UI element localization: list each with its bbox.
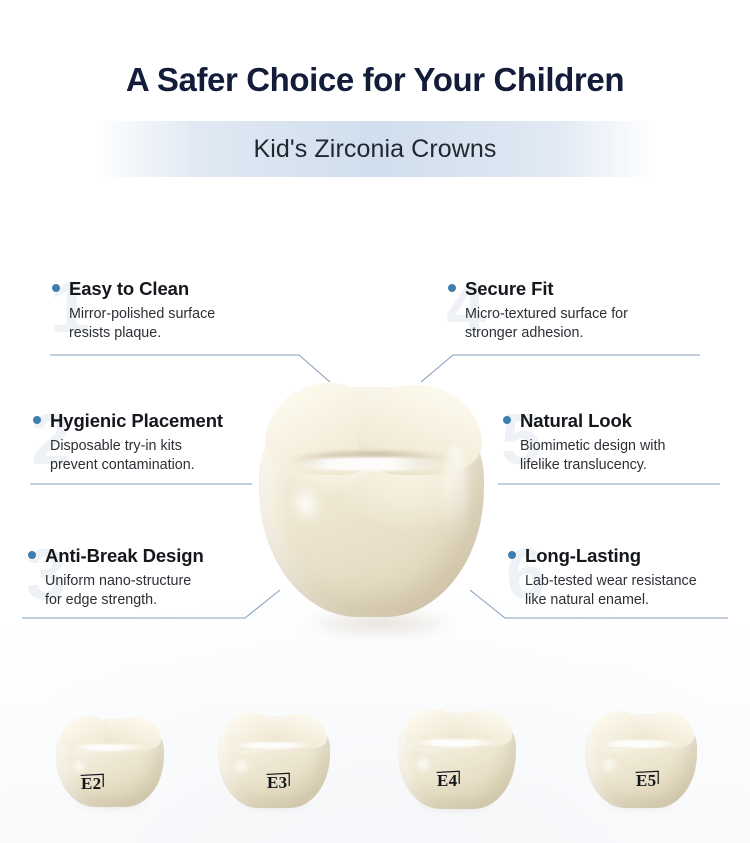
crown-gloss-highlight <box>231 742 316 749</box>
feature-easy-to-clean: 1 Easy to Clean Mirror-polished surface … <box>52 278 215 343</box>
crown-gloss-highlight <box>69 744 151 751</box>
bullet-icon <box>33 416 41 424</box>
bullet-icon <box>508 551 516 559</box>
feature-anti-break-design: 3 Anti-Break Design Uniform nano-structu… <box>28 545 204 610</box>
crown-gloss-highlight <box>598 740 683 748</box>
crown-size-e3[interactable]: E3 <box>218 716 330 808</box>
crown-size-label: E3 <box>266 772 290 793</box>
crown-size-label-text: E3 <box>267 773 287 792</box>
crown-size-e5[interactable]: E5 <box>585 714 697 808</box>
crown-size-label: E5 <box>635 770 659 791</box>
feature-heading: Secure Fit <box>448 278 628 300</box>
feature-natural-look: 5 Natural Look Biomimetic design with li… <box>503 410 665 475</box>
crown-size-label-text: E4 <box>437 771 457 790</box>
infographic-page: A Safer Choice for Your Children Kid's Z… <box>0 0 750 843</box>
connector-secure-fit <box>421 355 700 382</box>
feature-description: Mirror-polished surface resists plaque. <box>69 305 215 343</box>
feature-secure-fit: 4 Secure Fit Micro-textured surface for … <box>448 278 628 343</box>
crown-gloss-highlight <box>412 739 502 747</box>
crown-size-row: E2 E3 <box>0 690 750 830</box>
bullet-icon <box>28 551 36 559</box>
main-crown-image <box>259 387 484 617</box>
feature-description: Disposable try-in kits prevent contamina… <box>50 437 223 475</box>
feature-title: Natural Look <box>520 410 632 432</box>
crown-gloss-edge <box>442 445 468 565</box>
crown-size-e2[interactable]: E2 <box>56 719 164 807</box>
feature-title: Long-Lasting <box>525 545 641 567</box>
bullet-icon <box>52 284 60 292</box>
feature-heading: Hygienic Placement <box>33 410 223 432</box>
crown-size-label: E4 <box>436 770 460 791</box>
crown-gloss-highlight <box>293 457 453 471</box>
bullet-icon <box>503 416 511 424</box>
feature-heading: Natural Look <box>503 410 665 432</box>
feature-heading: Easy to Clean <box>52 278 215 300</box>
crown-size-label-text: E5 <box>636 771 656 790</box>
feature-heading: Anti-Break Design <box>28 545 204 567</box>
crown-size-label-text: E2 <box>81 774 101 793</box>
feature-title: Hygienic Placement <box>50 410 223 432</box>
crown-size-e4[interactable]: E4 <box>398 712 516 809</box>
feature-title: Easy to Clean <box>69 278 189 300</box>
bullet-icon <box>448 284 456 292</box>
feature-description: Micro-textured surface for stronger adhe… <box>465 305 628 343</box>
crown-size-label: E2 <box>80 773 104 794</box>
feature-description: Uniform nano-structure for edge strength… <box>45 572 204 610</box>
feature-title: Secure Fit <box>465 278 553 300</box>
feature-hygienic-placement: 2 Hygienic Placement Disposable try-in k… <box>33 410 223 475</box>
feature-long-lasting: 6 Long-Lasting Lab-tested wear resistanc… <box>508 545 697 610</box>
feature-description: Biomimetic design with lifelike transluc… <box>520 437 665 475</box>
feature-heading: Long-Lasting <box>508 545 697 567</box>
feature-title: Anti-Break Design <box>45 545 204 567</box>
connector-easy-to-clean <box>50 355 330 382</box>
feature-description: Lab-tested wear resistance like natural … <box>525 572 697 610</box>
